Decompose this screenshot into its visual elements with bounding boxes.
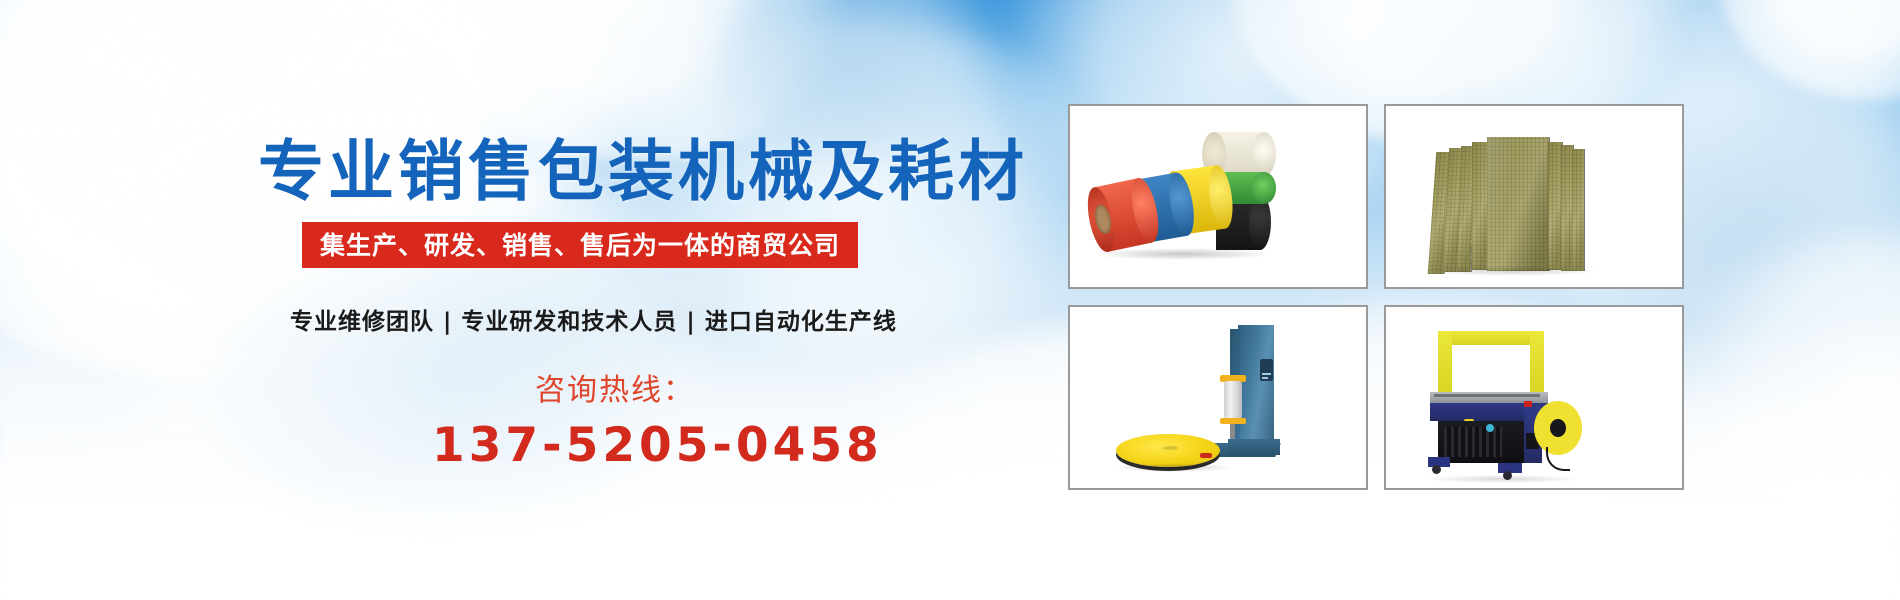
feature-list: 专业维修团队 | 专业研发和技术人员 | 进口自动化生产线: [290, 302, 897, 336]
product-card-strapping-machine[interactable]: [1384, 305, 1684, 490]
product-image-grid: [1068, 104, 1684, 494]
hotline-label: 咨询热线：: [535, 365, 695, 409]
product-card-strapping-rolls[interactable]: [1068, 104, 1368, 289]
product-card-woven-sacks[interactable]: [1384, 104, 1684, 289]
product-image-woven-sacks: [1386, 106, 1682, 287]
product-image-stretch-wrapper: [1070, 307, 1366, 488]
tagline-ribbon: 集生产、研发、销售、售后为一体的商贸公司: [302, 222, 858, 268]
headline-block: 专业销售包装机械及耗材 集生产、研发、销售、售后为一体的商贸公司 专业维修团队 …: [0, 0, 1040, 600]
product-image-strapping-machine: [1386, 307, 1682, 488]
product-card-stretch-wrapper[interactable]: [1068, 305, 1368, 490]
page-title: 专业销售包装机械及耗材: [258, 118, 1028, 214]
hotline-number[interactable]: 137-5205-0458: [432, 418, 883, 473]
tagline-ribbon-text: 集生产、研发、销售、售后为一体的商贸公司: [320, 233, 840, 258]
promo-banner: 专业销售包装机械及耗材 集生产、研发、销售、售后为一体的商贸公司 专业维修团队 …: [0, 0, 1900, 600]
product-image-strapping-rolls: [1070, 106, 1366, 287]
